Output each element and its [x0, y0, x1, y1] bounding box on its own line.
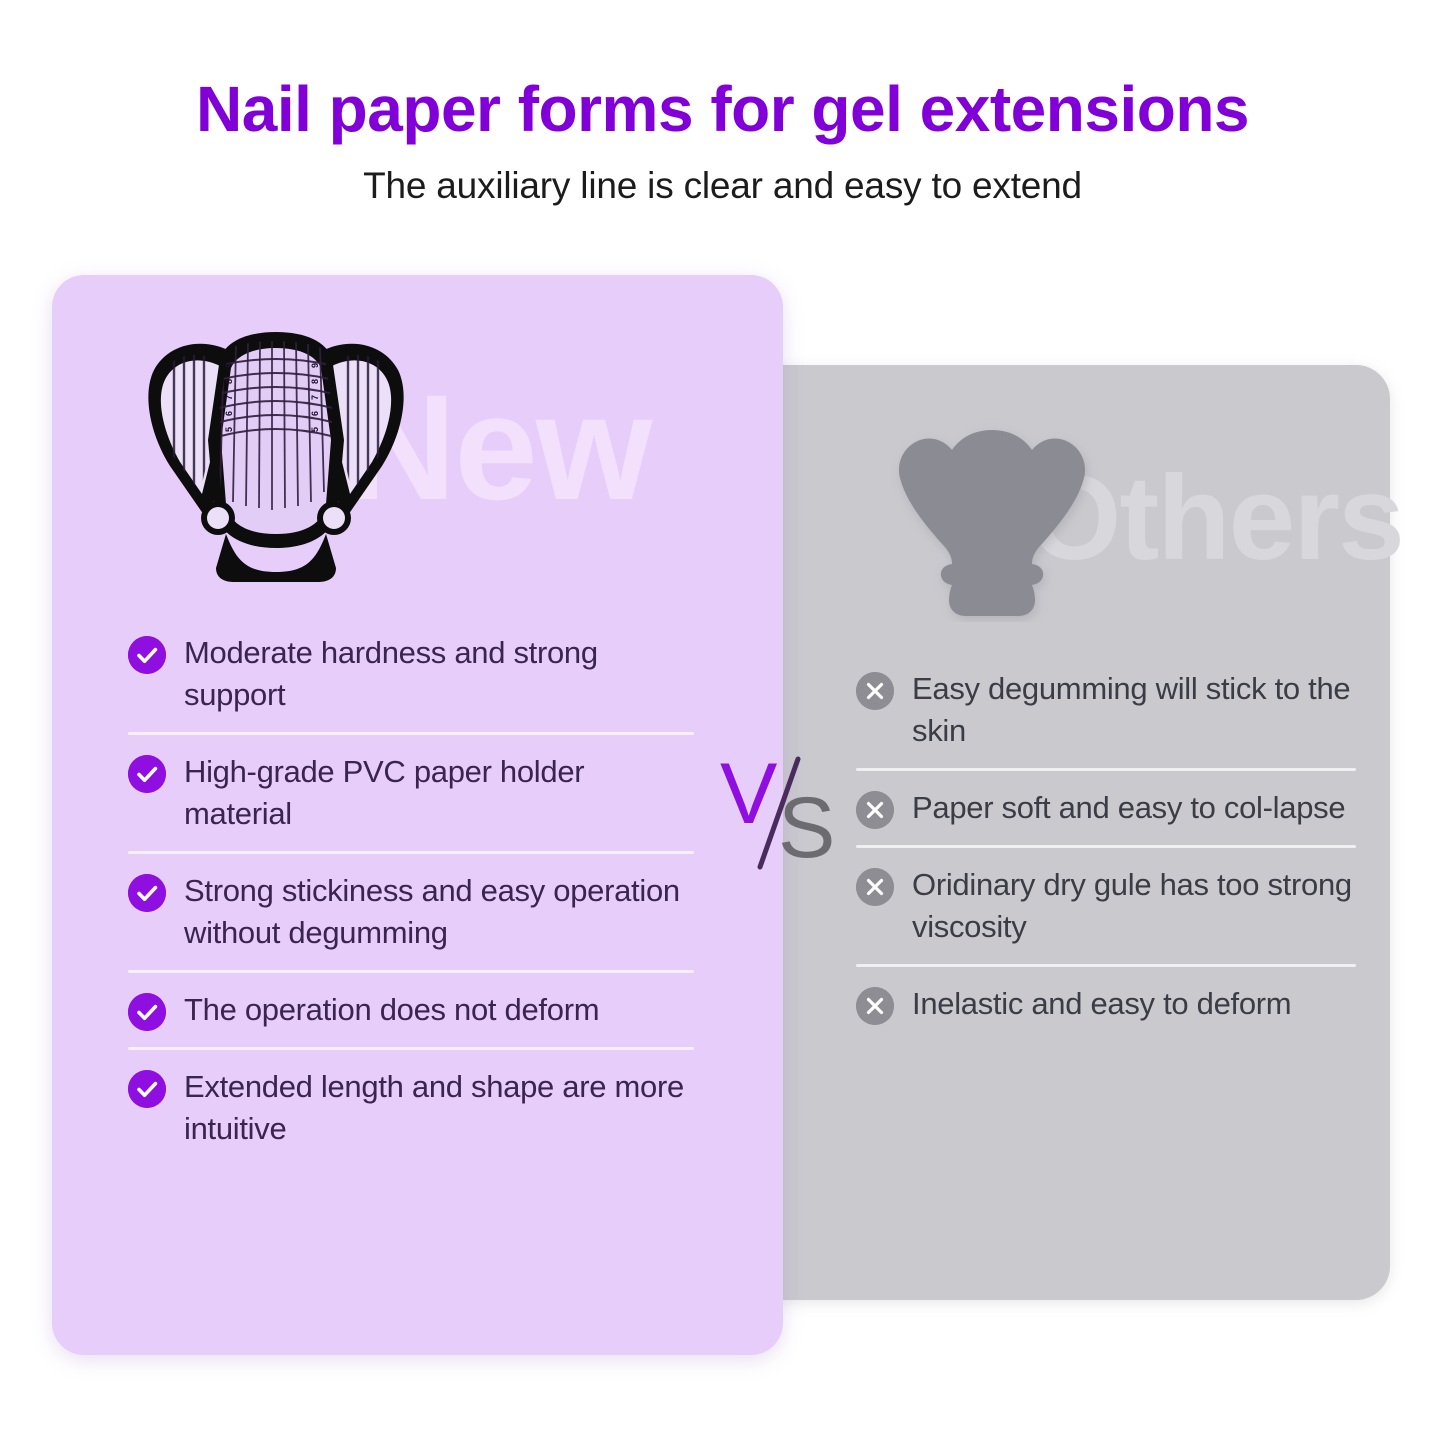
- list-item: Strong stickiness and easy operation wit…: [128, 870, 694, 954]
- new-feature-list: Moderate hardness and strong support Hig…: [128, 632, 694, 1150]
- list-item: Inelastic and easy to deform: [856, 983, 1356, 1025]
- list-item-label: Extended length and shape are more intui…: [184, 1066, 694, 1150]
- list-divider: [128, 851, 694, 854]
- list-item-label: Easy degumming will stick to the skin: [912, 668, 1356, 752]
- plain-nail-form-silhouette-icon: [882, 422, 1102, 622]
- check-circle-icon: [128, 874, 166, 912]
- others-feature-list: Easy degumming will stick to the skin Pa…: [856, 668, 1356, 1025]
- list-item: Moderate hardness and strong support: [128, 632, 694, 716]
- infographic-canvas: Nail paper forms for gel extensions The …: [0, 0, 1445, 1445]
- list-item-label: Strong stickiness and easy operation wit…: [184, 870, 694, 954]
- page-title: Nail paper forms for gel extensions: [0, 72, 1445, 146]
- list-item: Extended length and shape are more intui…: [128, 1066, 694, 1150]
- check-circle-icon: [128, 993, 166, 1031]
- list-item: The operation does not deform: [128, 989, 694, 1031]
- list-item-label: Oridinary dry gule has too strong viscos…: [912, 864, 1356, 948]
- list-item-label: High-grade PVC paper holder material: [184, 751, 694, 835]
- vs-left-letter: V: [720, 746, 777, 842]
- check-circle-icon: [128, 755, 166, 793]
- list-divider: [856, 845, 1356, 848]
- svg-text:5: 5: [224, 427, 234, 432]
- list-divider: [128, 970, 694, 973]
- svg-text:6: 6: [224, 411, 234, 416]
- svg-text:9: 9: [310, 363, 320, 368]
- list-item-label: The operation does not deform: [184, 989, 599, 1031]
- svg-text:7: 7: [224, 395, 234, 400]
- list-divider: [856, 964, 1356, 967]
- versus-badge: V S: [712, 745, 862, 875]
- svg-text:5: 5: [310, 427, 320, 432]
- list-item: Paper soft and easy to col-lapse: [856, 787, 1356, 829]
- check-circle-icon: [128, 1070, 166, 1108]
- close-circle-icon: [856, 987, 894, 1025]
- close-circle-icon: [856, 672, 894, 710]
- list-divider: [856, 768, 1356, 771]
- svg-text:8: 8: [224, 379, 234, 384]
- list-item-label: Moderate hardness and strong support: [184, 632, 694, 716]
- header: Nail paper forms for gel extensions The …: [0, 72, 1445, 208]
- list-item: Oridinary dry gule has too strong viscos…: [856, 864, 1356, 948]
- page-subtitle: The auxiliary line is clear and easy to …: [0, 164, 1445, 208]
- list-item: Easy degumming will stick to the skin: [856, 668, 1356, 752]
- list-divider: [128, 732, 694, 735]
- svg-text:6: 6: [310, 411, 320, 416]
- check-circle-icon: [128, 636, 166, 674]
- list-item-label: Paper soft and easy to col-lapse: [912, 787, 1345, 829]
- nail-form-with-guide-lines-icon: 9 8 7 6 5 9 8 7 6 5: [140, 322, 412, 590]
- list-item: High-grade PVC paper holder material: [128, 751, 694, 835]
- svg-text:8: 8: [310, 379, 320, 384]
- list-divider: [128, 1047, 694, 1050]
- vs-right-letter: S: [778, 780, 835, 875]
- svg-text:7: 7: [310, 395, 320, 400]
- list-item-label: Inelastic and easy to deform: [912, 983, 1291, 1025]
